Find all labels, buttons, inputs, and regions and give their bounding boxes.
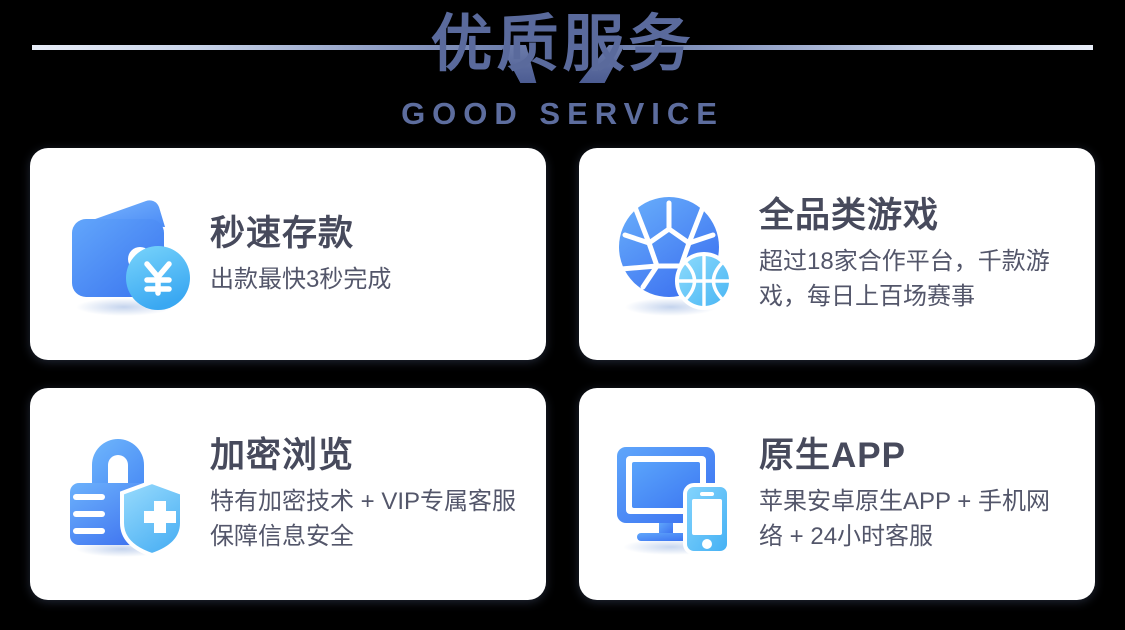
card-description: 出款最快3秒完成 — [210, 262, 391, 297]
feature-card-games[interactable]: 全品类游戏 超过18家合作平台，千款游戏，每日上百场赛事 — [579, 148, 1095, 360]
card-title: 加密浏览 — [210, 434, 520, 478]
feature-card-deposit[interactable]: 秒速存款 出款最快3秒完成 — [30, 148, 546, 360]
card-text: 秒速存款 出款最快3秒完成 — [196, 212, 397, 297]
card-title: 全品类游戏 — [759, 194, 1069, 238]
card-description: 特有加密技术 + VIP专属客服保障信息安全 — [210, 484, 520, 554]
wallet-icon — [58, 185, 196, 323]
card-description: 苹果安卓原生APP + 手机网络 + 24小时客服 — [759, 484, 1069, 554]
card-title: 原生APP — [759, 434, 1069, 478]
feature-card-encryption[interactable]: 加密浏览 特有加密技术 + VIP专属客服保障信息安全 — [30, 388, 546, 600]
page-title: 优质服务 — [0, 6, 1125, 84]
card-description: 超过18家合作平台，千款游戏，每日上百场赛事 — [759, 244, 1069, 314]
card-text: 全品类游戏 超过18家合作平台，千款游戏，每日上百场赛事 — [745, 194, 1075, 314]
card-title: 秒速存款 — [210, 212, 391, 256]
header: 优质服务 GOOD SERVICE — [0, 0, 1125, 145]
soccer-basketball-icon — [607, 185, 745, 323]
feature-card-native-app[interactable]: 原生APP 苹果安卓原生APP + 手机网络 + 24小时客服 — [579, 388, 1095, 600]
promo-banner: 优质服务 GOOD SERVICE — [0, 0, 1125, 630]
lock-shield-icon — [58, 425, 196, 563]
monitor-phone-icon — [607, 425, 745, 563]
card-text: 加密浏览 特有加密技术 + VIP专属客服保障信息安全 — [196, 434, 526, 554]
page-subtitle: GOOD SERVICE — [0, 96, 1125, 132]
card-text: 原生APP 苹果安卓原生APP + 手机网络 + 24小时客服 — [745, 434, 1075, 554]
feature-card-grid: 秒速存款 出款最快3秒完成 — [30, 148, 1095, 600]
